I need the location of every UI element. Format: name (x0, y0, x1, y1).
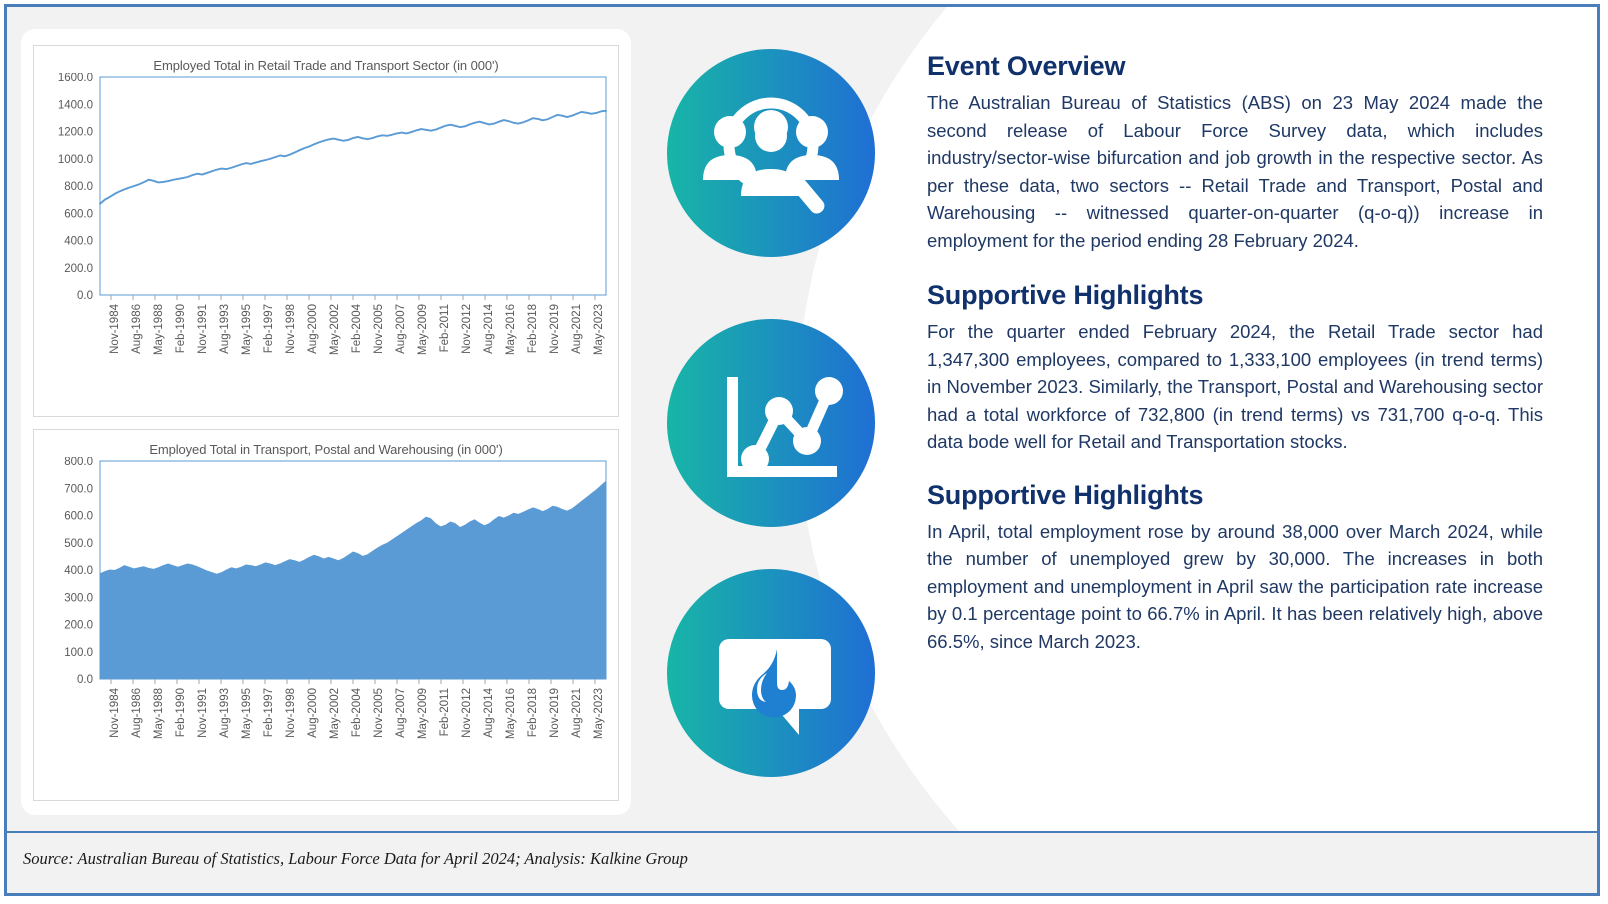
svg-text:800.0: 800.0 (64, 457, 93, 468)
svg-text:Feb-2011: Feb-2011 (439, 688, 451, 736)
svg-text:Nov-2019: Nov-2019 (549, 688, 561, 738)
svg-text:200.0: 200.0 (64, 263, 93, 275)
icon-circle-supportive-highlights-2 (667, 569, 875, 777)
svg-text:Nov-2012: Nov-2012 (461, 304, 473, 354)
svg-text:500.0: 500.0 (64, 538, 93, 550)
svg-text:1600.0: 1600.0 (58, 73, 93, 84)
svg-text:May-1988: May-1988 (153, 688, 165, 739)
svg-text:1200.0: 1200.0 (58, 127, 93, 139)
svg-text:300.0: 300.0 (64, 592, 93, 604)
svg-text:600.0: 600.0 (64, 511, 93, 523)
svg-text:1400.0: 1400.0 (58, 99, 93, 111)
svg-text:Feb-2018: Feb-2018 (527, 688, 539, 737)
svg-text:100.0: 100.0 (64, 647, 93, 659)
svg-text:Feb-2004: Feb-2004 (351, 303, 363, 353)
svg-text:Feb-1990: Feb-1990 (175, 304, 187, 353)
section-heading-1: Event Overview (927, 51, 1543, 82)
svg-text:400.0: 400.0 (64, 236, 93, 248)
chart-title-retail: Employed Total in Retail Trade and Trans… (34, 46, 618, 73)
svg-text:Nov-1991: Nov-1991 (197, 688, 209, 738)
section-body-1: The Australian Bureau of Statistics (ABS… (927, 89, 1543, 254)
svg-text:Aug-2000: Aug-2000 (307, 304, 319, 354)
svg-text:May-1988: May-1988 (153, 304, 165, 355)
svg-text:Nov-1998: Nov-1998 (285, 688, 297, 738)
svg-text:Feb-2004: Feb-2004 (351, 687, 363, 737)
svg-text:Nov-1991: Nov-1991 (197, 304, 209, 354)
infographic-frame: Employed Total in Retail Trade and Trans… (4, 4, 1600, 896)
svg-text:Feb-2018: Feb-2018 (527, 304, 539, 353)
svg-text:May-2016: May-2016 (505, 304, 517, 355)
svg-text:Aug-2021: Aug-2021 (571, 688, 583, 738)
svg-text:Nov-2005: Nov-2005 (373, 688, 385, 738)
flame-chat-icon (667, 569, 875, 777)
text-column: Event Overview The Australian Bureau of … (927, 51, 1543, 655)
svg-text:Aug-2014: Aug-2014 (483, 687, 495, 737)
svg-text:Aug-1986: Aug-1986 (131, 688, 143, 738)
svg-text:Feb-1997: Feb-1997 (263, 304, 275, 353)
svg-text:0.0: 0.0 (77, 290, 93, 302)
svg-text:May-2002: May-2002 (329, 688, 341, 739)
section-heading-2: Supportive Highlights (927, 280, 1543, 311)
svg-text:600.0: 600.0 (64, 208, 93, 220)
svg-text:400.0: 400.0 (64, 565, 93, 577)
svg-text:Aug-1986: Aug-1986 (131, 304, 143, 354)
svg-text:Aug-2014: Aug-2014 (483, 303, 495, 353)
svg-text:Aug-2000: Aug-2000 (307, 688, 319, 738)
svg-text:Nov-2019: Nov-2019 (549, 304, 561, 354)
svg-text:Feb-1997: Feb-1997 (263, 688, 275, 737)
icon-circle-event-overview (667, 49, 875, 257)
chart-retail-trade: Employed Total in Retail Trade and Trans… (33, 45, 619, 417)
svg-text:Aug-2007: Aug-2007 (395, 688, 407, 738)
chart-transport-postal: Employed Total in Transport, Postal and … (33, 429, 619, 801)
line-chart-icon (667, 319, 875, 527)
svg-text:May-2009: May-2009 (417, 688, 429, 739)
svg-text:Feb-1990: Feb-1990 (175, 688, 187, 737)
section-heading-3: Supportive Highlights (927, 480, 1543, 511)
icon-circle-supportive-highlights-1 (667, 319, 875, 527)
svg-text:Nov-1998: Nov-1998 (285, 304, 297, 354)
section-supportive-highlights-1: Supportive Highlights For the quarter en… (927, 280, 1543, 456)
svg-text:700.0: 700.0 (64, 483, 93, 495)
section-body-2: For the quarter ended February 2024, the… (927, 318, 1543, 456)
section-supportive-highlights-2: Supportive Highlights In April, total em… (927, 480, 1543, 656)
svg-text:Aug-2007: Aug-2007 (395, 304, 407, 354)
svg-text:May-1995: May-1995 (241, 304, 253, 355)
svg-text:Aug-1993: Aug-1993 (219, 304, 231, 354)
svg-text:Nov-2005: Nov-2005 (373, 304, 385, 354)
svg-text:Nov-1984: Nov-1984 (109, 303, 121, 353)
svg-text:Feb-2011: Feb-2011 (439, 304, 451, 352)
svg-text:May-2023: May-2023 (593, 304, 605, 355)
chart-plot-transport: 0.0100.0200.0300.0400.0500.0600.0700.080… (34, 457, 618, 775)
chart-plot-retail: 0.0200.0400.0600.0800.01000.01200.01400.… (34, 73, 618, 391)
infographic-content: Employed Total in Retail Trade and Trans… (7, 7, 1597, 893)
svg-text:1000.0: 1000.0 (58, 154, 93, 166)
section-body-3: In April, total employment rose by aroun… (927, 518, 1543, 656)
charts-card: Employed Total in Retail Trade and Trans… (21, 29, 631, 815)
svg-text:May-2002: May-2002 (329, 304, 341, 355)
footer-bar: Source: Australian Bureau of Statistics,… (7, 831, 1597, 893)
svg-text:200.0: 200.0 (64, 620, 93, 632)
svg-text:May-2016: May-2016 (505, 688, 517, 739)
people-search-icon (667, 49, 875, 257)
section-event-overview: Event Overview The Australian Bureau of … (927, 51, 1543, 254)
svg-text:0.0: 0.0 (77, 674, 93, 686)
svg-text:Aug-1993: Aug-1993 (219, 688, 231, 738)
svg-text:800.0: 800.0 (64, 181, 93, 193)
svg-text:Aug-2021: Aug-2021 (571, 304, 583, 354)
chart-title-transport: Employed Total in Transport, Postal and … (34, 430, 618, 457)
svg-text:May-2023: May-2023 (593, 688, 605, 739)
svg-text:Nov-2012: Nov-2012 (461, 688, 473, 738)
svg-text:May-1995: May-1995 (241, 688, 253, 739)
svg-text:Nov-1984: Nov-1984 (109, 687, 121, 737)
svg-text:May-2009: May-2009 (417, 304, 429, 355)
source-note: Source: Australian Bureau of Statistics,… (23, 849, 688, 869)
